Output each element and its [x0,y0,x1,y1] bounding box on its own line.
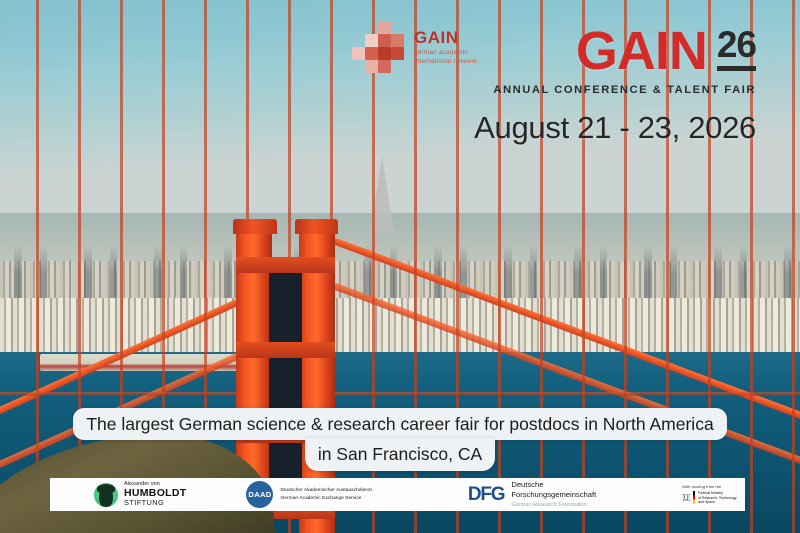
banner-line-2: in San Francisco, CA [305,438,495,470]
bmftr-line-3: and Space [698,500,736,505]
funding-note: With funding from the [682,484,736,489]
headline-title-row: GAIN 26 [474,26,756,77]
sponsor-logo-bar: Alexander von HUMBOLDT STIFTUNG DAAD Deu… [50,478,745,511]
tower-opening-1 [269,273,303,342]
bmftr-text: Federal Ministry of Research, Technology… [698,491,736,505]
banner-line-1: The largest German science & research ca… [73,408,726,440]
tower-cap-right [295,219,339,234]
gain-mark-title: GAIN [414,29,477,46]
daad-logo-icon: DAAD [246,481,273,508]
sponsor-daad: DAAD Deutscher Akademischer Austauschdie… [246,478,371,511]
gain-mark-text: GAIN german academic international netwo… [414,29,477,66]
daad-line-1: Deutscher Akademischer Austauschdienst [280,487,371,494]
tower-cap-left [233,219,277,234]
sponsor-humboldt: Alexander von HUMBOLDT STIFTUNG [94,478,186,511]
gain-mark-subtitle-line1: german academic [414,49,477,58]
dfg-line-2: Forschungsgemeinschaft [511,490,596,500]
gain-mosaic-icon [352,21,410,73]
humboldt-portrait-icon [94,483,118,507]
bridge-roadway [0,392,800,396]
headline-block: GAIN 26 ANNUAL CONFERENCE & TALENT FAIR … [474,26,756,146]
tower-crossbeam-2 [236,342,335,358]
dfg-line-1: Deutsche [511,480,596,490]
sponsor-dfg: DFG Deutsche Forschungsgemeinschaft Germ… [468,478,596,511]
dfg-logo-icon: DFG [468,484,505,506]
daad-text: Deutscher Akademischer Austauschdienst G… [280,487,371,501]
gain-logo-mark: GAIN german academic international netwo… [352,21,482,73]
gain-conference-poster: GAIN german academic international netwo… [0,0,800,533]
headline-year: 26 [717,26,756,71]
bmftr-block: With funding from the 🇺​ Federal Ministr… [682,484,736,505]
headline-tagline: ANNUAL CONFERENCE & TALENT FAIR [474,84,756,96]
event-description-banner: The largest German science & research ca… [0,408,800,471]
bmftr-row: 🇺​ Federal Ministry of Research, Technol… [682,491,736,505]
tower-crossbeam-1 [236,257,335,273]
event-date: August 21 - 23, 2026 [474,110,756,146]
dfg-line-3: German Research Foundation [511,502,596,509]
federal-eagle-icon: 🇺​ [682,493,690,502]
gain-mark-subtitle-line2: international network [414,58,477,67]
headline-gain-word: GAIN [576,26,707,77]
gain-mark-subtitle: german academic international network [414,49,477,66]
german-flag-bar-icon [693,491,695,504]
humboldt-text: Alexander von HUMBOLDT STIFTUNG [124,481,186,508]
sponsor-federal-ministry: With funding from the 🇺​ Federal Ministr… [682,478,736,511]
daad-line-2: German Academic Exchange Service [280,495,371,502]
dfg-text: Deutsche Forschungsgemeinschaft German R… [511,480,596,509]
humboldt-line-3: STIFTUNG [124,499,186,508]
